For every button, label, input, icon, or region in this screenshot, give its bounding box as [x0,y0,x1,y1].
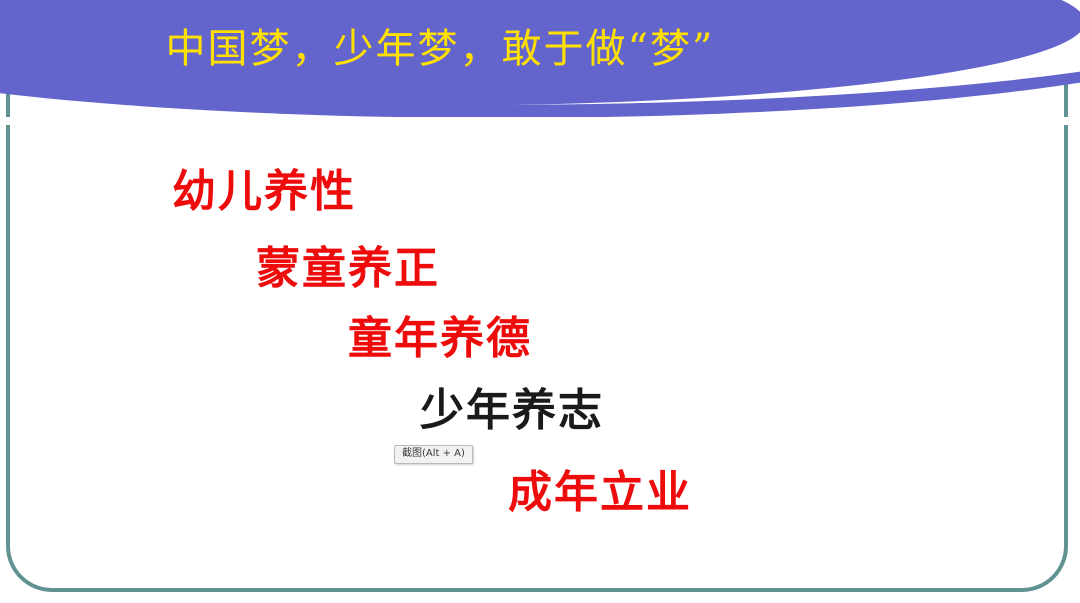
presentation-slide: 中国梦，少年梦，敢于做“梦” 幼儿养性 蒙童养正 童年养德 少年养志 成年立业 … [0,0,1080,603]
body-line-3: 童年养德 [348,302,532,366]
body-line-5: 成年立业 [508,456,692,520]
body-line-2: 蒙童养正 [256,232,440,296]
slide-title: 中国梦，少年梦，敢于做“梦” [0,16,880,74]
body-line-1: 幼儿养性 [172,155,356,219]
capture-screenshot-tooltip[interactable]: 截图(Alt + A) [394,445,473,464]
slide-body: 幼儿养性 蒙童养正 童年养德 少年养志 成年立业 [0,0,1080,603]
body-line-4: 少年养志 [420,374,604,438]
